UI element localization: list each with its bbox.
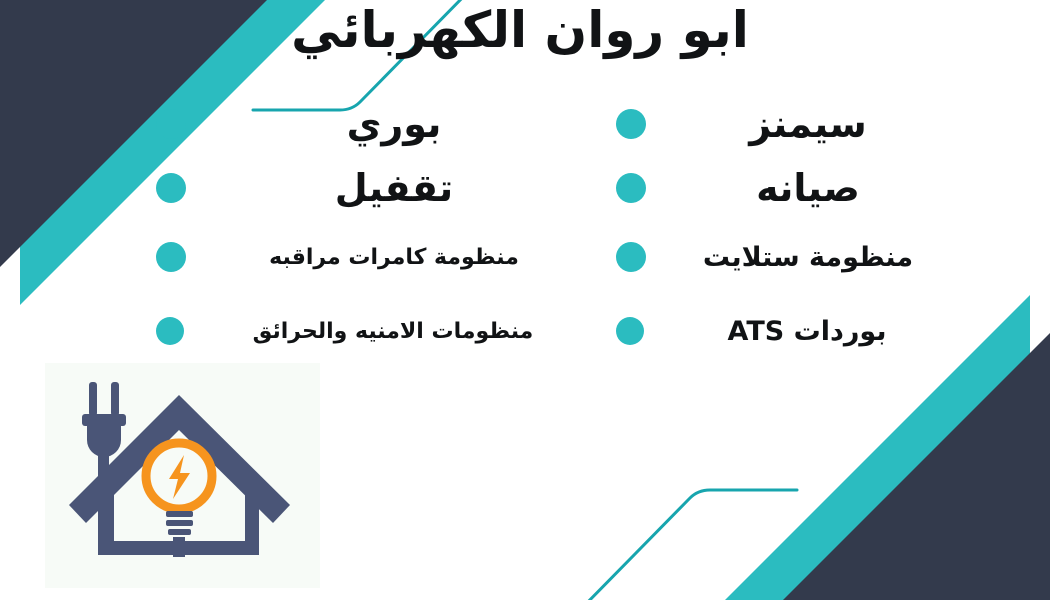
teal-dot-bullet-icon <box>616 109 646 139</box>
teal-dot-bullet-icon <box>156 173 186 203</box>
service-item[interactable]: منظومة ستلايت <box>600 220 960 294</box>
poster-title: ابو روان الكهربائي <box>0 2 1050 60</box>
lightning-bolt-icon <box>169 455 190 499</box>
service-label: منظومات الامنيه والحرائق <box>184 319 580 344</box>
service-item[interactable]: منظومات الامنيه والحرائق <box>140 294 580 368</box>
service-label: تقفيل <box>186 166 580 210</box>
poster-canvas: ابو روان الكهربائي سيمنز صيانه منظومة ست… <box>0 0 1050 600</box>
house-electrical-logo-graphic <box>45 363 320 588</box>
services-right-column: سيمنز صيانه منظومة ستلايت بوردات ATS <box>600 92 960 368</box>
service-label: سيمنز <box>646 102 960 146</box>
teal-outline-line-bottom-right <box>580 490 797 600</box>
teal-dot-bullet-icon <box>156 317 184 345</box>
teal-dot-bullet-icon <box>616 317 644 345</box>
teal-dot-bullet-icon <box>616 242 646 272</box>
navy-triangle-bottom-right <box>778 328 1050 600</box>
service-item[interactable]: بوردات ATS <box>600 294 960 368</box>
light-bulb-icon <box>146 443 212 557</box>
service-label: بوردات ATS <box>644 316 960 347</box>
teal-dot-bullet-icon <box>156 242 186 272</box>
service-label: بوري <box>186 102 580 146</box>
service-item[interactable]: تقفيل <box>140 156 580 220</box>
service-item[interactable]: منظومة كامرات مراقبه <box>140 220 580 294</box>
service-item[interactable]: بوري <box>140 92 580 156</box>
services-left-column: بوري تقفيل منظومة كامرات مراقبه منظومات … <box>140 92 580 368</box>
service-label: منظومة ستلايت <box>646 242 960 273</box>
teal-dot-bullet-icon <box>156 109 186 139</box>
gray-rounded-stripe-bottom-right <box>700 476 1050 600</box>
house-electrical-logo <box>45 363 320 588</box>
service-item[interactable]: سيمنز <box>600 92 960 156</box>
service-item[interactable]: صيانه <box>600 156 960 220</box>
teal-dot-bullet-icon <box>616 173 646 203</box>
service-label: منظومة كامرات مراقبه <box>186 245 580 270</box>
service-label: صيانه <box>646 166 960 210</box>
